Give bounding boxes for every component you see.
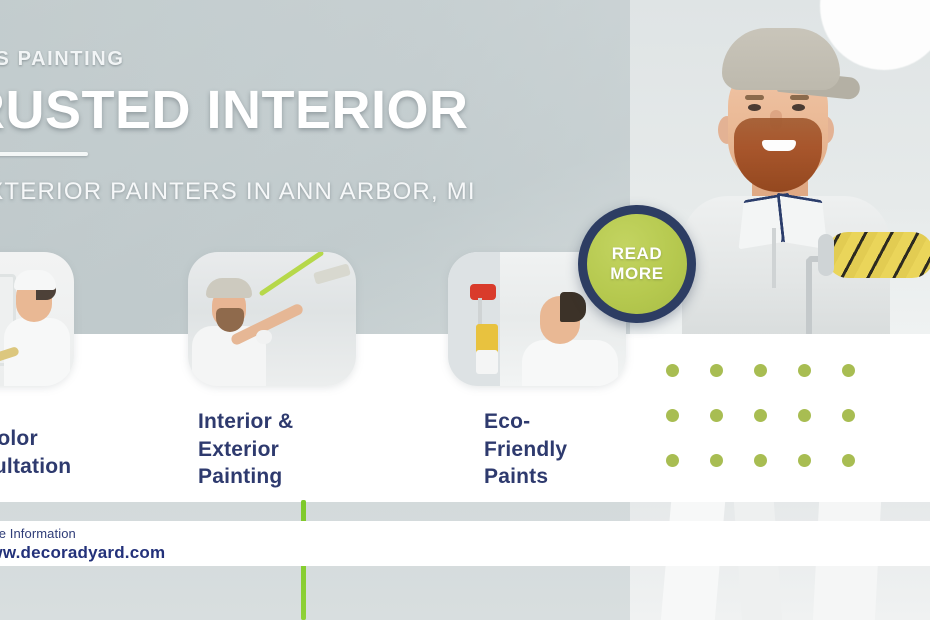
hero-subtitle: EXTERIOR PAINTERS IN ANN ARBOR, MI: [0, 178, 620, 206]
page-title: RUSTED INTERIOR: [0, 83, 620, 138]
dot-grid-decoration: [666, 364, 886, 499]
dot: [842, 409, 855, 422]
hero-text-block: G'S PAINTING RUSTED INTERIOR EXTERIOR PA…: [0, 48, 620, 206]
dot: [798, 364, 811, 377]
dot: [666, 409, 679, 422]
dot: [798, 409, 811, 422]
service-card-color-consultation[interactable]: [0, 252, 74, 386]
service-label-interior-exterior: Interior &ExteriorPainting: [198, 408, 358, 491]
service-label-color-consultation: Colorsultation: [0, 425, 152, 480]
read-more-label-line2: MORE: [610, 264, 663, 284]
dot: [710, 364, 723, 377]
dot: [842, 364, 855, 377]
service-label-eco-friendly: Eco-FriendlyPaints: [484, 408, 634, 491]
footer-contact: More Information www.decoradyard.com: [0, 526, 165, 563]
service-card-interior-exterior[interactable]: [188, 252, 356, 386]
title-divider: [0, 152, 88, 156]
brand-eyebrow: G'S PAINTING: [0, 48, 620, 71]
dot: [666, 364, 679, 377]
dot: [710, 454, 723, 467]
dot: [754, 454, 767, 467]
dot: [666, 454, 679, 467]
poster-canvas: G'S PAINTING RUSTED INTERIOR EXTERIOR PA…: [0, 0, 930, 620]
read-more-label-line1: READ: [612, 244, 663, 264]
footer-website[interactable]: www.decoradyard.com: [0, 543, 165, 563]
paint-roller-icon: [806, 258, 812, 334]
dot: [754, 364, 767, 377]
dot: [754, 409, 767, 422]
dot: [842, 454, 855, 467]
footer-info-label: More Information: [0, 526, 165, 541]
dot: [798, 454, 811, 467]
read-more-button[interactable]: READ MORE: [578, 205, 696, 323]
dot: [710, 409, 723, 422]
